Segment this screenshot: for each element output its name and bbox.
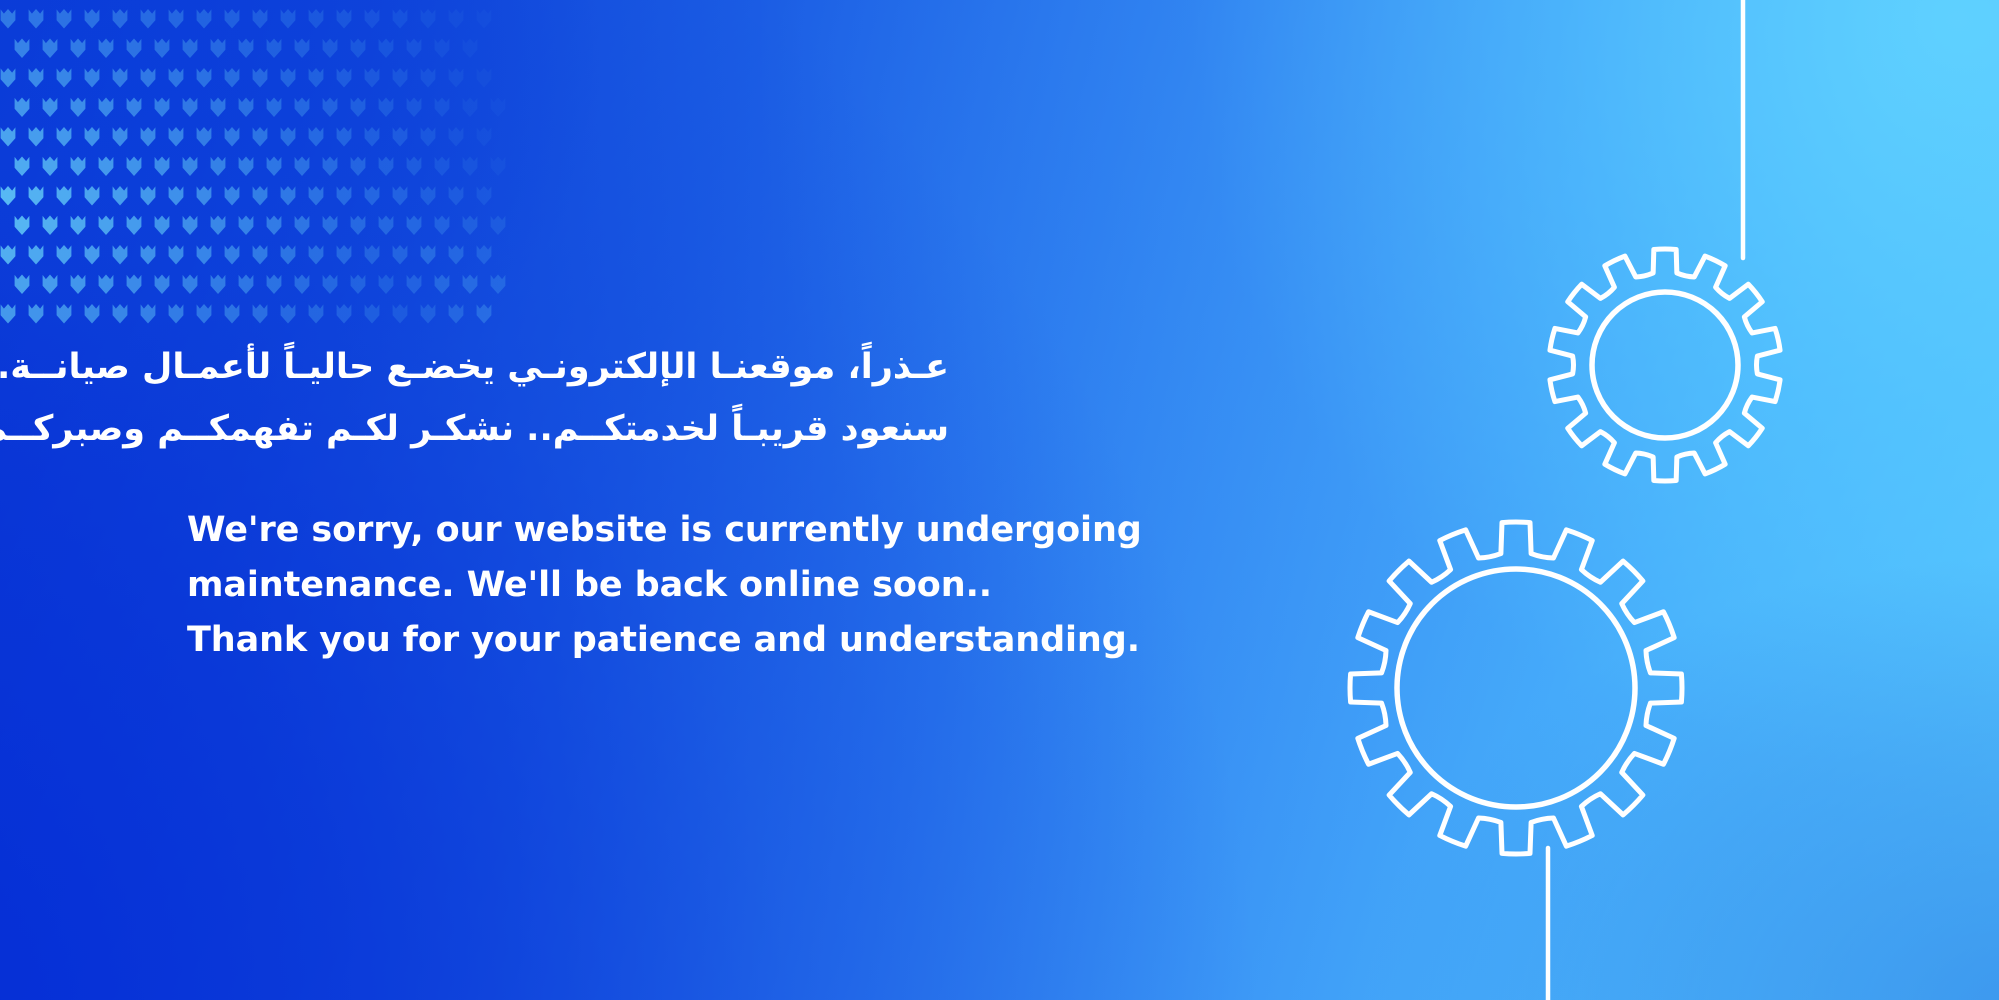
- arabic-message-line-2: سنعود قريبـاً لخدمتكــم.. نشكـر لكـم تفه…: [187, 398, 949, 460]
- message-block: عـذراً، موقعنـا الإلكترونـي يخضـع حاليـا…: [187, 336, 1187, 668]
- english-message-line-3: Thank you for your patience and understa…: [187, 613, 1187, 668]
- arabic-message-line-1: عـذراً، موقعنـا الإلكترونـي يخضـع حاليـا…: [187, 336, 949, 398]
- english-message: We're sorry, our website is currently un…: [187, 503, 1187, 668]
- english-message-line-1: We're sorry, our website is currently un…: [187, 503, 1187, 558]
- english-message-line-2: maintenance. We'll be back online soon..: [187, 558, 1187, 613]
- arabic-message: عـذراً، موقعنـا الإلكترونـي يخضـع حاليـا…: [187, 336, 949, 460]
- maintenance-page: عـذراً، موقعنـا الإلكترونـي يخضـع حاليـا…: [0, 0, 1999, 1000]
